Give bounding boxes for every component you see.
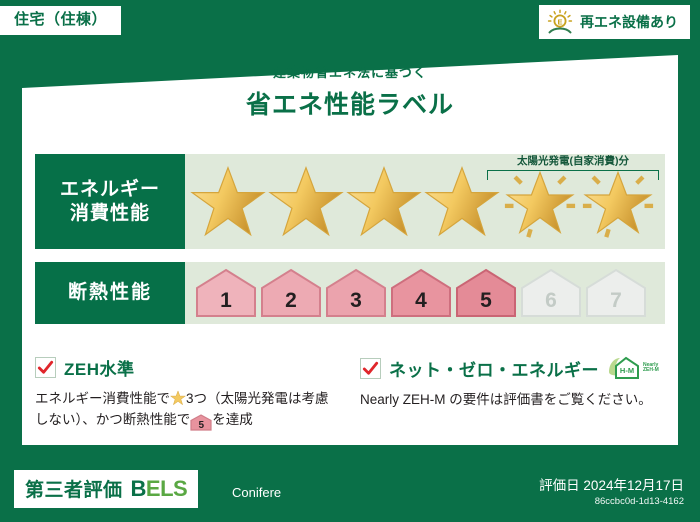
evaluation-meta: 評価日 2024年12月17日 86ccbc0d-1d13-4162 — [539, 477, 684, 508]
insulation-level-track: 1 2 3 4 — [185, 262, 665, 324]
criterion-desc-part1: エネルギー消費性能で — [35, 391, 170, 406]
insulation-level-label: 7 — [610, 289, 622, 318]
insulation-level-label: 5 — [480, 289, 492, 318]
insulation-level-label: 6 — [545, 289, 557, 318]
renewable-badge-label: 再エネ設備あり — [580, 12, 678, 32]
energy-performance-row: エネルギー 消費性能 — [35, 154, 665, 249]
criterion-net-zero-energy: ネット・ゼロ・エネルギー H-M Nearly ZEH-M Nearly ZEH… — [360, 355, 670, 411]
insulation-level-7: 7 — [585, 268, 647, 318]
insulation-caption-text: 断熱性能 — [68, 281, 152, 305]
insulation-performance-row: 断熱性能 1 2 3 — [35, 262, 665, 324]
client-name: Conifere — [232, 485, 281, 500]
insulation-level-badge: 5 — [190, 414, 212, 431]
insulation-level-1: 1 — [195, 268, 257, 318]
bels-wordmark: BELS — [131, 476, 188, 502]
star-icon — [189, 163, 267, 241]
heading-title: 省エネ性能ラベル — [0, 85, 700, 121]
solar-sun-icon: E — [547, 9, 573, 35]
nearly-zeh-m-logo-icon: H-M Nearly ZEH-M — [607, 355, 659, 381]
document-type-tag: 住宅（住棟） — [0, 6, 121, 35]
document-type-text: 住宅（住棟） — [14, 11, 107, 28]
criterion-title: ネット・ゼロ・エネルギー — [389, 356, 599, 381]
energy-performance-caption: エネルギー 消費性能 — [35, 154, 185, 249]
zeh-logo-sub2: ZEH-M — [643, 368, 659, 373]
star-icon — [345, 163, 423, 241]
criterion-desc-part3: を達成 — [212, 412, 253, 427]
insulation-level-6: 6 — [520, 268, 582, 318]
solar-star-icon — [501, 163, 579, 241]
insulation-level-label: 2 — [285, 289, 297, 318]
star-icon — [170, 390, 186, 406]
energy-performance-label: 住宅（住棟） E 再エネ設備あり 建築物省エネ法に基づ — [0, 0, 700, 522]
bels-letters-els: ELS — [146, 476, 187, 501]
label-heading: 建築物省エネ法に基づく 省エネ性能ラベル — [0, 62, 700, 121]
star-icon — [423, 163, 501, 241]
insulation-level-label: 1 — [220, 289, 232, 318]
star-icon — [267, 163, 345, 241]
document-id: 86ccbc0d-1d13-4162 — [539, 495, 684, 508]
checkbox-checked-icon — [35, 357, 56, 378]
criterion-description: Nearly ZEH-M の要件は評価書をご覧ください。 — [360, 390, 670, 411]
energy-caption-line2: 消費性能 — [70, 202, 150, 226]
svg-text:E: E — [557, 17, 562, 26]
criterion-title: ZEH水準 — [64, 355, 135, 380]
bels-third-party-mark: 第三者評価 BELS — [14, 470, 198, 508]
third-party-label: 第三者評価 — [25, 475, 123, 502]
bels-letter-b: B — [131, 476, 146, 501]
insulation-level-2: 2 — [260, 268, 322, 318]
evaluation-date: 評価日 2024年12月17日 — [539, 477, 684, 495]
insulation-level-3: 3 — [325, 268, 387, 318]
insulation-level-label: 4 — [415, 289, 427, 318]
checkbox-checked-icon — [360, 358, 381, 379]
insulation-level-badge-value: 5 — [198, 420, 204, 431]
solar-star-icon — [579, 163, 657, 241]
energy-star-track: 太陽光発電(自家消費)分 — [185, 154, 665, 249]
heading-subtitle: 建築物省エネ法に基づく — [0, 62, 700, 81]
insulation-level-label: 3 — [350, 289, 362, 318]
criterion-description: エネルギー消費性能で3つ（太陽光発電は考慮しない）、かつ断熱性能で5を達成 — [35, 389, 335, 431]
insulation-level-4: 4 — [390, 268, 452, 318]
criterion-title-row: ネット・ゼロ・エネルギー H-M Nearly ZEH-M — [360, 355, 670, 381]
criterion-title-row: ZEH水準 — [35, 355, 335, 380]
insulation-performance-caption: 断熱性能 — [35, 262, 185, 324]
svg-text:H-M: H-M — [620, 366, 634, 375]
renewable-equipment-badge: E 再エネ設備あり — [539, 5, 690, 39]
energy-caption-line1: エネルギー — [60, 178, 160, 202]
insulation-level-5: 5 — [455, 268, 517, 318]
criterion-zeh-standard: ZEH水準 エネルギー消費性能で3つ（太陽光発電は考慮しない）、かつ断熱性能で5… — [35, 355, 335, 431]
